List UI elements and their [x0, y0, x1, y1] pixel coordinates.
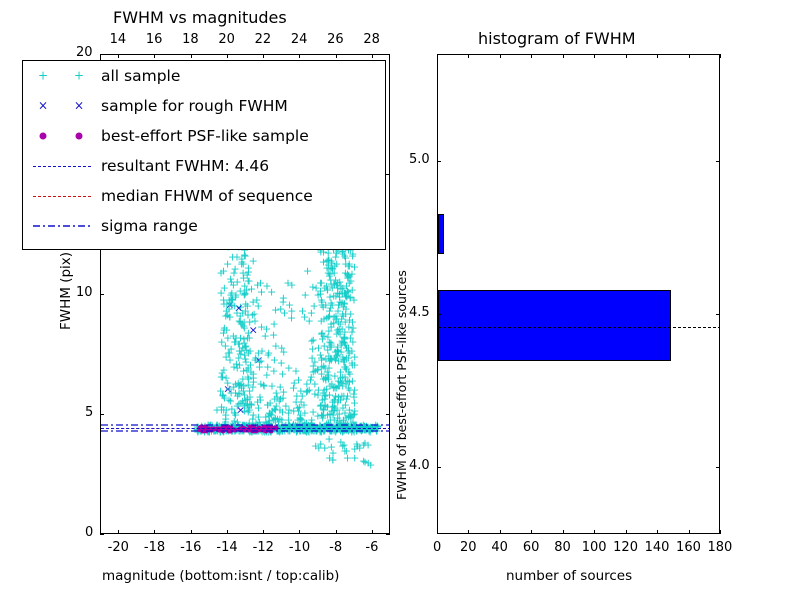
- resultant-fwhm-line: [101, 428, 389, 429]
- x-tick-mark: [263, 530, 264, 534]
- legend-item-all-sample: + + all sample: [23, 61, 385, 91]
- x-tick-mark: [336, 530, 337, 534]
- scatter-point-all-sample: +: [254, 347, 263, 358]
- x-tick-label-top: 20: [218, 32, 235, 47]
- scatter-point-all-sample: +: [287, 306, 296, 317]
- x-tick-label-top: 28: [363, 32, 380, 47]
- x-tick-mark: [227, 530, 228, 534]
- x-tick-label-top: 22: [255, 32, 272, 47]
- scatter-point-all-sample: +: [311, 440, 320, 451]
- y-tick-mark-right: [386, 534, 390, 535]
- scatter-point-all-sample: +: [232, 358, 241, 369]
- hist-x-tick-mark: [531, 530, 532, 534]
- scatter-point-all-sample: +: [313, 410, 322, 421]
- x-tick-mark-top: [118, 54, 119, 58]
- scatter-point-all-sample: +: [223, 378, 232, 389]
- scatter-point-all-sample: +: [320, 442, 329, 453]
- x-tick-label-bottom: -14: [216, 540, 237, 555]
- scatter-point-all-sample: +: [360, 456, 369, 467]
- x-tick-label-bottom: -10: [289, 540, 310, 555]
- scatter-point-all-sample: +: [330, 402, 339, 413]
- x-tick-mark: [372, 530, 373, 534]
- hist-y-tick-mark-right: [716, 161, 720, 162]
- x-tick-label-bottom: -8: [329, 540, 342, 555]
- y-tick-mark-right: [386, 294, 390, 295]
- scatter-point-all-sample: +: [345, 348, 354, 359]
- hist-x-tick-label: 140: [645, 540, 670, 555]
- x-tick-label-top: 24: [291, 32, 308, 47]
- cross-marker-icon: × ×: [23, 91, 101, 121]
- scatter-point-all-sample: +: [276, 394, 285, 405]
- hist-x-tick-mark-top: [626, 54, 627, 58]
- y-tick-label: 20: [76, 45, 93, 60]
- left-xlabel: magnitude (bottom:isnt / top:calib): [102, 568, 339, 584]
- y-tick-mark-right: [386, 174, 390, 175]
- legend-label: sigma range: [101, 217, 198, 235]
- left-panel-title: FWHM vs magnitudes: [113, 8, 287, 27]
- hist-x-tick-label: 120: [613, 540, 638, 555]
- y-tick-mark: [100, 294, 104, 295]
- scatter-point-all-sample: +: [303, 266, 312, 277]
- scatter-point-all-sample: +: [350, 452, 359, 463]
- dashed-line-red-icon: [23, 181, 101, 211]
- scatter-point-all-sample: +: [327, 355, 336, 366]
- histogram-axes: [437, 54, 720, 534]
- legend-label: median FHWM of sequence: [101, 187, 313, 205]
- histogram-bar: [438, 214, 444, 254]
- scatter-point-all-sample: +: [244, 327, 253, 338]
- hist-x-tick-mark: [437, 530, 438, 534]
- y-tick-mark-right: [386, 414, 390, 415]
- dashdot-line-icon: [23, 211, 101, 241]
- x-tick-label-top: 26: [327, 32, 344, 47]
- legend-box: + + all sample × × sample for rough FWHM…: [22, 60, 386, 250]
- right-ylabel: FWHM of best-effort PSF-like sources: [394, 270, 409, 500]
- y-tick-label: 10: [76, 285, 93, 300]
- hist-x-tick-mark-top: [563, 54, 564, 58]
- sigma-range-low-line: [101, 429, 389, 433]
- scatter-point-all-sample: +: [239, 273, 248, 284]
- scatter-point-all-sample: +: [237, 258, 246, 269]
- legend-item-resultant-fwhm: resultant FWHM: 4.46: [23, 151, 385, 181]
- right-panel-title: histogram of FWHM: [478, 29, 636, 48]
- hist-y-tick-mark: [437, 467, 441, 468]
- x-tick-label-bottom: -20: [108, 540, 129, 555]
- scatter-point-all-sample: +: [261, 412, 270, 423]
- hist-x-tick-mark-top: [500, 54, 501, 58]
- x-tick-mark-top: [299, 54, 300, 58]
- scatter-point-all-sample: +: [350, 398, 359, 409]
- histogram-median-line: [438, 327, 719, 328]
- scatter-point-all-sample: +: [267, 381, 276, 392]
- scatter-point-all-sample: +: [341, 303, 350, 314]
- scatter-point-all-sample: +: [350, 261, 359, 272]
- hist-x-tick-label: 160: [676, 540, 701, 555]
- hist-x-tick-mark: [500, 530, 501, 534]
- y-tick-mark: [100, 534, 104, 535]
- hist-x-tick-label: 100: [582, 540, 607, 555]
- circle-marker-icon: [23, 121, 101, 151]
- hist-x-tick-mark-top: [531, 54, 532, 58]
- x-tick-mark-top: [336, 54, 337, 58]
- hist-x-tick-label: 180: [708, 540, 733, 555]
- right-xlabel: number of sources: [506, 568, 632, 584]
- dashdot-svg: [23, 211, 101, 241]
- scatter-point-all-sample: +: [338, 335, 347, 346]
- hist-x-tick-label: 20: [460, 540, 477, 555]
- scatter-point-all-sample: +: [241, 341, 250, 352]
- y-tick-label: 5: [85, 405, 93, 420]
- hist-y-tick-label: 5.0: [409, 152, 430, 167]
- legend-label: best-effort PSF-like sample: [101, 127, 309, 145]
- scatter-point-all-sample: +: [236, 379, 245, 390]
- scatter-point-all-sample: +: [345, 385, 354, 396]
- y-tick-label: 0: [85, 525, 93, 540]
- legend-item-sigma-range: sigma range: [23, 211, 385, 241]
- x-tick-label-bottom: -12: [253, 540, 274, 555]
- legend-item-psf-like: best-effort PSF-like sample: [23, 121, 385, 151]
- scatter-point-all-sample: +: [310, 379, 319, 390]
- scatter-point-all-sample: +: [297, 397, 306, 408]
- x-tick-mark: [191, 530, 192, 534]
- legend-label: resultant FWHM: 4.46: [101, 157, 269, 175]
- scatter-point-all-sample: +: [325, 291, 334, 302]
- hist-y-tick-mark: [437, 314, 441, 315]
- hist-x-tick-mark-top: [437, 54, 438, 58]
- plus-marker-icon: + +: [23, 61, 101, 91]
- hist-x-tick-label: 40: [491, 540, 508, 555]
- scatter-point-all-sample: +: [294, 375, 303, 386]
- x-tick-label-top: 14: [110, 32, 127, 47]
- scatter-point-all-sample: +: [310, 366, 319, 377]
- scatter-point-all-sample: +: [348, 249, 357, 260]
- hist-x-tick-mark-top: [594, 54, 595, 58]
- hist-x-tick-mark: [720, 530, 721, 534]
- scatter-point-all-sample: +: [278, 368, 287, 379]
- hist-y-tick-label: 4.5: [409, 305, 430, 320]
- dashed-line-icon: [23, 151, 101, 181]
- scatter-point-all-sample: +: [263, 350, 272, 361]
- scatter-point-all-sample: +: [307, 336, 316, 347]
- scatter-point-all-sample: +: [249, 376, 258, 387]
- scatter-point-all-sample: +: [228, 252, 237, 263]
- legend-label: sample for rough FWHM: [101, 97, 288, 115]
- x-tick-label-bottom: -6: [365, 540, 378, 555]
- hist-x-tick-mark-top: [689, 54, 690, 58]
- x-tick-label-top: 18: [182, 32, 199, 47]
- y-tick-mark-right: [386, 54, 390, 55]
- hist-x-tick-label: 0: [433, 540, 441, 555]
- scatter-point-all-sample: +: [269, 318, 278, 329]
- scatter-point-all-sample: +: [345, 278, 354, 289]
- scatter-point-all-sample: +: [359, 439, 368, 450]
- scatter-point-all-sample: +: [234, 399, 243, 410]
- hist-y-tick-mark-right: [716, 467, 720, 468]
- scatter-point-all-sample: +: [324, 369, 333, 380]
- x-tick-mark-top: [154, 54, 155, 58]
- scatter-point-all-sample: +: [276, 382, 285, 393]
- hist-x-tick-mark: [468, 530, 469, 534]
- hist-x-tick-label: 80: [554, 540, 571, 555]
- x-tick-label-top: 16: [146, 32, 163, 47]
- scatter-point-all-sample: +: [314, 290, 323, 301]
- histogram-bar: [438, 290, 671, 360]
- scatter-point-all-sample: +: [253, 279, 262, 290]
- scatter-point-all-sample: +: [226, 343, 235, 354]
- x-tick-mark: [118, 530, 119, 534]
- scatter-point-all-sample: +: [249, 256, 258, 267]
- hist-x-tick-mark: [626, 530, 627, 534]
- scatter-point-all-sample: +: [328, 454, 337, 465]
- x-tick-mark: [154, 530, 155, 534]
- x-tick-label-bottom: -18: [144, 540, 165, 555]
- hist-x-tick-mark-top: [720, 54, 721, 58]
- hist-x-tick-label: 60: [523, 540, 540, 555]
- scatter-point-all-sample: +: [219, 404, 228, 415]
- left-ylabel: FWHM (pix): [58, 252, 74, 330]
- x-tick-mark-top: [263, 54, 264, 58]
- hist-x-tick-mark: [594, 530, 595, 534]
- sigma-range-high-line: [101, 423, 389, 427]
- legend-label: all sample: [101, 67, 180, 85]
- scatter-point-all-sample: +: [216, 267, 225, 278]
- figure-canvas: FWHM vs magnitudes +++++++++++++++++++++…: [0, 0, 800, 600]
- scatter-point-all-sample: +: [249, 309, 258, 320]
- scatter-point-all-sample: +: [267, 286, 276, 297]
- scatter-point-all-sample: +: [263, 361, 272, 372]
- hist-y-tick-mark-right: [716, 314, 720, 315]
- hist-x-tick-mark: [563, 530, 564, 534]
- scatter-point-all-sample: +: [336, 367, 345, 378]
- x-tick-mark-top: [191, 54, 192, 58]
- scatter-point-all-sample: +: [226, 289, 235, 300]
- x-tick-mark-top: [372, 54, 373, 58]
- y-tick-mark: [100, 414, 104, 415]
- x-tick-mark: [299, 530, 300, 534]
- scatter-point-all-sample: +: [253, 396, 262, 407]
- scatter-point-all-sample: +: [223, 309, 232, 320]
- x-tick-mark-top: [227, 54, 228, 58]
- scatter-point-all-sample: +: [331, 274, 340, 285]
- hist-y-tick-label: 4.0: [409, 458, 430, 473]
- hist-x-tick-mark-top: [468, 54, 469, 58]
- hist-y-tick-mark: [437, 161, 441, 162]
- hist-x-tick-mark: [657, 530, 658, 534]
- scatter-point-all-sample: +: [325, 342, 334, 353]
- scatter-point-all-sample: +: [338, 441, 347, 452]
- scatter-point-all-sample: +: [242, 284, 251, 295]
- legend-item-median-fwhm: median FHWM of sequence: [23, 181, 385, 211]
- scatter-point-all-sample: +: [220, 323, 229, 334]
- y-tick-mark: [100, 54, 104, 55]
- scatter-point-all-sample: +: [324, 326, 333, 337]
- scatter-point-all-sample: +: [287, 280, 296, 291]
- hist-x-tick-mark-top: [657, 54, 658, 58]
- scatter-point-all-sample: +: [307, 308, 316, 319]
- legend-item-rough-fwhm: × × sample for rough FWHM: [23, 91, 385, 121]
- x-tick-label-bottom: -16: [180, 540, 201, 555]
- scatter-point-all-sample: +: [261, 331, 270, 342]
- hist-x-tick-mark: [689, 530, 690, 534]
